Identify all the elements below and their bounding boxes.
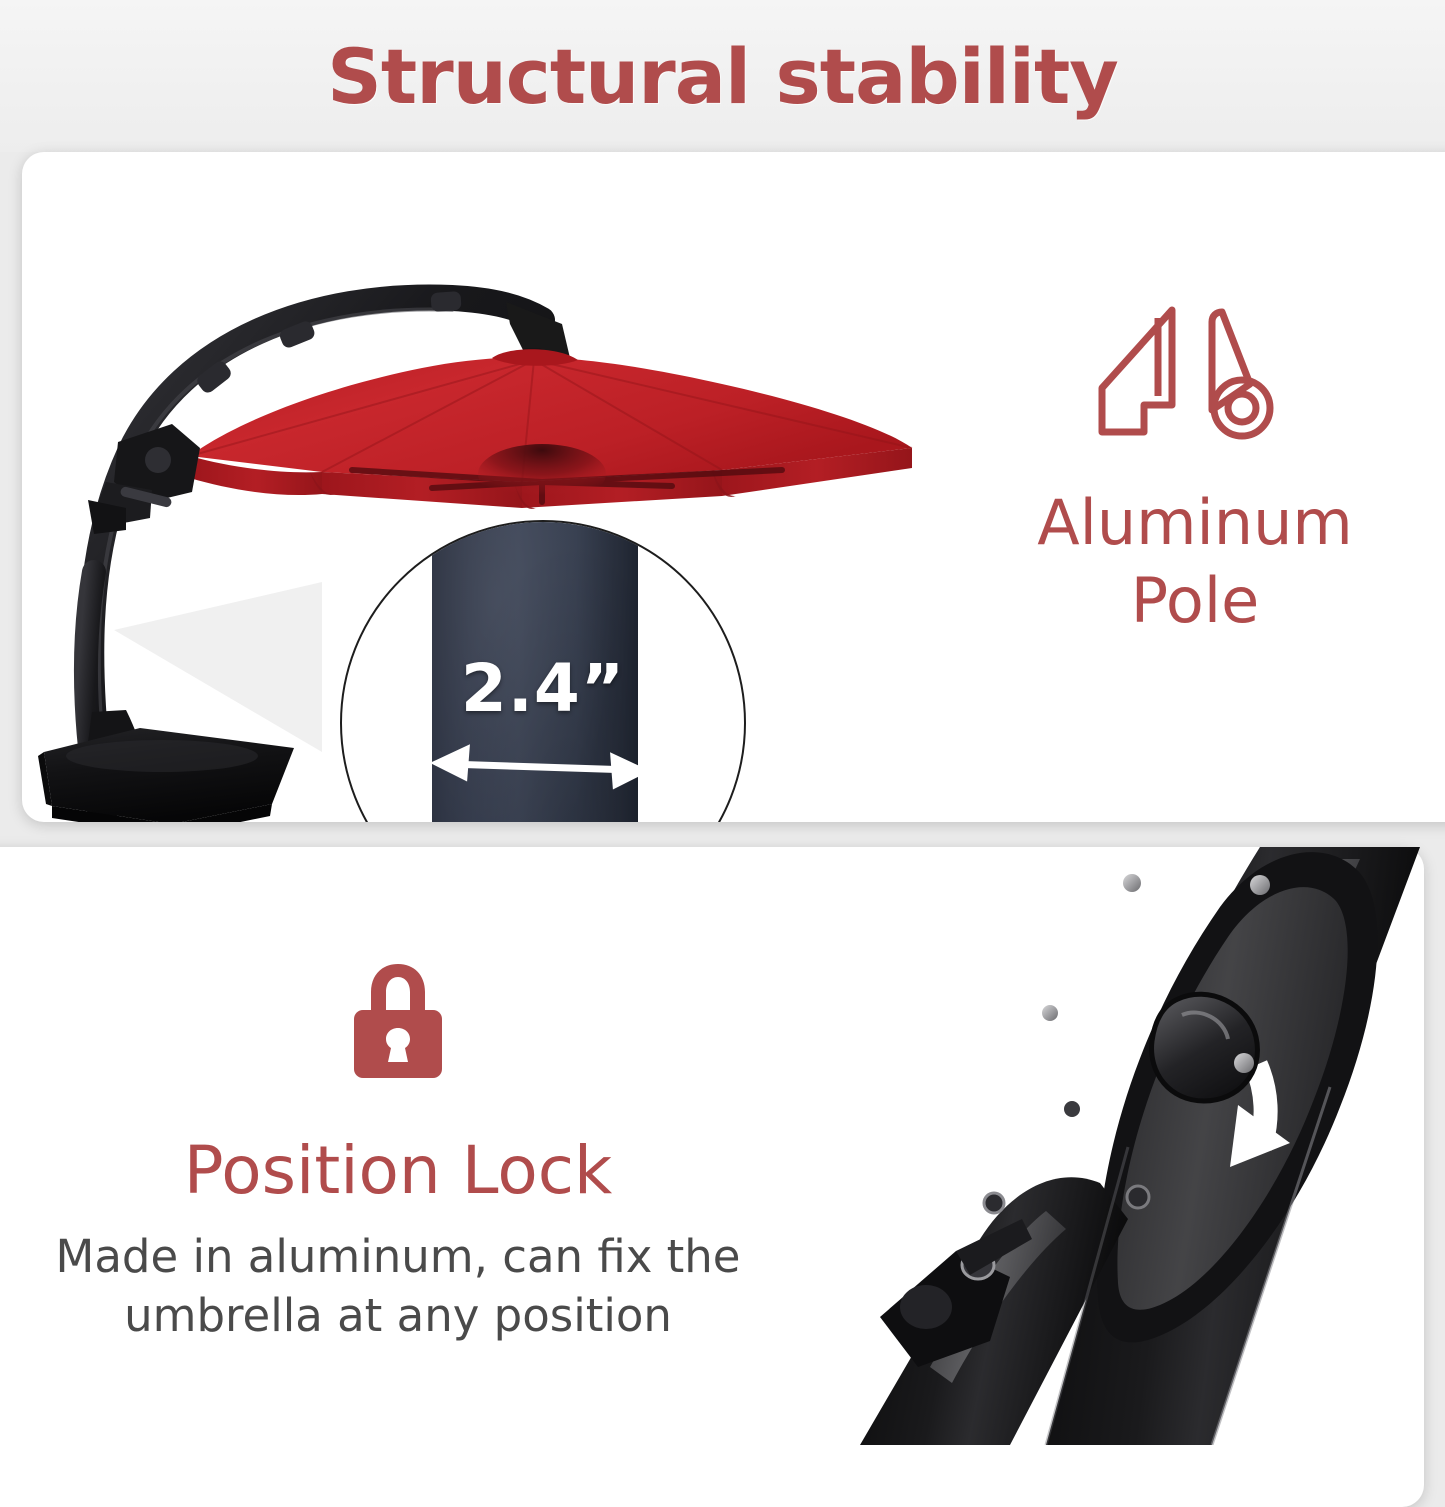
feature-description: Made in aluminum, can fix the umbrella a… [48, 1227, 748, 1346]
feature-position-lock: Position Lock Made in aluminum, can fix … [48, 958, 748, 1346]
hinge-closeup-illustration [860, 847, 1424, 1445]
feature-title: Position Lock [48, 1132, 748, 1209]
feature-title-line-2: Pole [985, 562, 1405, 640]
umbrella-product-photo: 2.4” [22, 152, 1022, 822]
feature-title-line-1: Aluminum [985, 484, 1405, 562]
feature-title: Aluminum Pole [985, 484, 1405, 640]
feature-description-line-2: umbrella at any position [54, 1286, 742, 1345]
position-lock-hinge-photo [860, 847, 1424, 1445]
feature-aluminum-pole: Aluminum Pole [985, 300, 1405, 640]
pole-diameter-magnifier: 2.4” [340, 520, 746, 822]
padlock-icon [346, 958, 450, 1082]
feature-description-line-1: Made in aluminum, can fix the [54, 1227, 742, 1286]
aluminum-profile-icon [1092, 300, 1298, 440]
title-bar: Structural stability [0, 0, 1445, 152]
measurement-arrow-icon [342, 522, 744, 822]
page-title: Structural stability [327, 32, 1118, 121]
